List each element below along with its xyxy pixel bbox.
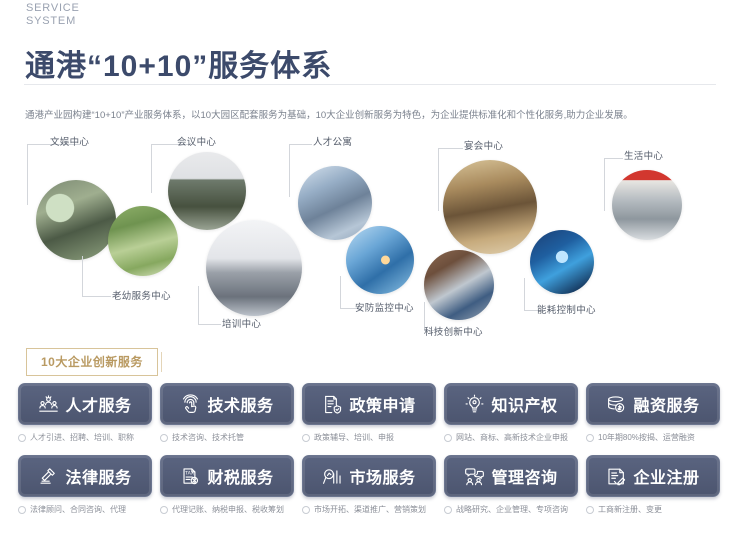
- diagram-label-life: 生活中心: [624, 148, 663, 162]
- caption-text: 10年期80%按揭、运营融资: [598, 432, 695, 443]
- diagram-label-culture: 文娱中心: [50, 134, 89, 148]
- service-cell-market: 市场服务 市场开拓、渠道推广、营销策划: [302, 455, 436, 515]
- service-card-policy[interactable]: 政策申请: [302, 383, 436, 425]
- service-caption-ip: 网站、商标、高新技术企业申报: [444, 432, 578, 443]
- bullet-circle-icon: [444, 434, 452, 442]
- caption-text: 法律顾问、合同咨询、代理: [30, 504, 126, 515]
- document-shield-icon: [322, 394, 343, 415]
- gym-photo: [36, 180, 116, 260]
- diagram-label-elder: 老幼服务中心: [112, 288, 171, 302]
- service-card-registration[interactable]: 企业注册: [586, 455, 720, 497]
- service-title: 企业注册: [633, 464, 699, 488]
- service-caption-financing: 10年期80%按揭、运营融资: [586, 432, 720, 443]
- diagram-label-techinno: 科技创新中心: [424, 324, 483, 338]
- service-card-market[interactable]: 市场服务: [302, 455, 436, 497]
- security-photo: [346, 226, 414, 294]
- service-caption-tax: 代理记账、纳税申报、税收筹划: [160, 504, 294, 515]
- bullet-circle-icon: [160, 506, 168, 514]
- service-cell-tax: TAX 财税服务 代理记账、纳税申报、税收筹划: [160, 455, 294, 515]
- diagram-label-banquet: 宴会中心: [464, 138, 503, 152]
- intro-paragraph: 通港产业园构建“10+10”产业服务体系，以10大园区配套服务为基础，10大企业…: [25, 109, 715, 123]
- service-card-financing[interactable]: 融资服务: [586, 383, 720, 425]
- bullet-circle-icon: [160, 434, 168, 442]
- bullet-circle-icon: [586, 434, 594, 442]
- training-photo: [206, 220, 302, 316]
- section-eyebrow: SERVICE SYSTEM: [26, 2, 80, 28]
- diagram-label-apartment: 人才公寓: [313, 134, 352, 148]
- bullet-circle-icon: [18, 434, 26, 442]
- caption-text: 工商新注册、变更: [598, 504, 662, 515]
- consulting-people-icon: [464, 466, 485, 487]
- service-caption-legal: 法律顾问、合同咨询、代理: [18, 504, 152, 515]
- energy-photo: [530, 230, 594, 294]
- service-title: 市场服务: [349, 464, 415, 488]
- service-title: 政策申请: [349, 392, 415, 416]
- money-coin-icon: [606, 394, 627, 415]
- market-chart-icon: [322, 466, 343, 487]
- service-card-technology[interactable]: 技术服务: [160, 383, 294, 425]
- service-card-ip[interactable]: 知识产权: [444, 383, 578, 425]
- service-caption-policy: 政策辅导、培训、申报: [302, 432, 436, 443]
- service-caption-talent: 人才引进、招聘、培训、职称: [18, 432, 152, 443]
- service-caption-market: 市场开拓、渠道推广、营销策划: [302, 504, 436, 515]
- diagram-label-security: 安防监控中心: [355, 300, 414, 314]
- service-caption-technology: 技术咨询、技术托管: [160, 432, 294, 443]
- service-title: 法律服务: [65, 464, 131, 488]
- service-card-legal[interactable]: 法律服务: [18, 455, 152, 497]
- life-photo: [612, 170, 682, 240]
- banquet-photo: [443, 160, 537, 254]
- service-caption-consulting: 战略研究、企业管理、专项咨询: [444, 504, 578, 515]
- service-cell-policy: 政策申请 政策辅导、培训、申报: [302, 383, 436, 443]
- page-title: 通港“10+10”服务体系: [25, 49, 332, 85]
- service-grid: 人才服务 人才引进、招聘、培训、职称 技术服务: [18, 383, 724, 515]
- bullet-circle-icon: [302, 506, 310, 514]
- meeting-photo: [168, 152, 246, 230]
- eyebrow-line-2: SYSTEM: [26, 15, 80, 28]
- service-title: 管理咨询: [491, 464, 557, 488]
- gavel-icon: [38, 466, 59, 487]
- tax-document-icon: TAX: [180, 466, 201, 487]
- bullet-circle-icon: [586, 506, 594, 514]
- service-cell-registration: 企业注册 工商新注册、变更: [586, 455, 720, 515]
- service-cell-technology: 技术服务 技术咨询、技术托管: [160, 383, 294, 443]
- service-card-consulting[interactable]: 管理咨询: [444, 455, 578, 497]
- caption-text: 市场开拓、渠道推广、营销策划: [314, 504, 426, 515]
- caption-text: 人才引进、招聘、培训、职称: [30, 432, 134, 443]
- caption-text: 代理记账、纳税申报、税收筹划: [172, 504, 284, 515]
- connector-line: [82, 256, 111, 297]
- lightbulb-icon: [464, 394, 485, 415]
- diagram-label-training: 培训中心: [222, 316, 261, 330]
- title-divider: [24, 84, 716, 85]
- service-row-1: 人才服务 人才引进、招聘、培训、职称 技术服务: [18, 383, 724, 443]
- svg-text:TAX: TAX: [185, 470, 196, 476]
- bullet-circle-icon: [444, 506, 452, 514]
- bullet-circle-icon: [302, 434, 310, 442]
- bullet-circle-icon: [18, 506, 26, 514]
- service-caption-registration: 工商新注册、变更: [586, 504, 720, 515]
- facility-diagram: 文娱中心 会议中心 老幼服务中心 培训中心 人才公寓 安防监控中心 宴会中心: [0, 126, 740, 346]
- section-badge: 10大企业创新服务: [26, 348, 158, 376]
- people-group-icon: [38, 394, 59, 415]
- service-card-talent[interactable]: 人才服务: [18, 383, 152, 425]
- service-card-tax[interactable]: TAX 财税服务: [160, 455, 294, 497]
- caption-text: 技术咨询、技术托管: [172, 432, 244, 443]
- service-cell-consulting: 管理咨询 战略研究、企业管理、专项咨询: [444, 455, 578, 515]
- service-title: 知识产权: [491, 392, 557, 416]
- elder-photo: [108, 206, 178, 276]
- tech-photo: [424, 250, 494, 320]
- service-title: 财税服务: [207, 464, 273, 488]
- service-cell-ip: 知识产权 网站、商标、高新技术企业申报: [444, 383, 578, 443]
- service-cell-talent: 人才服务 人才引进、招聘、培训、职称: [18, 383, 152, 443]
- service-cell-financing: 融资服务 10年期80%按揭、运营融资: [586, 383, 720, 443]
- service-row-2: 法律服务 法律顾问、合同咨询、代理 TAX: [18, 455, 724, 515]
- fingerprint-hand-icon: [180, 394, 201, 415]
- caption-text: 政策辅导、培训、申报: [314, 432, 394, 443]
- diagram-label-meeting: 会议中心: [177, 134, 216, 148]
- service-title: 人才服务: [65, 392, 131, 416]
- caption-text: 战略研究、企业管理、专项咨询: [456, 504, 568, 515]
- service-cell-legal: 法律服务 法律顾问、合同咨询、代理: [18, 455, 152, 515]
- service-title: 融资服务: [633, 392, 699, 416]
- caption-text: 网站、商标、高新技术企业申报: [456, 432, 568, 443]
- eyebrow-line-1: SERVICE: [26, 2, 80, 15]
- register-document-icon: [606, 466, 627, 487]
- diagram-label-energy: 能耗控制中心: [537, 302, 596, 316]
- service-title: 技术服务: [207, 392, 273, 416]
